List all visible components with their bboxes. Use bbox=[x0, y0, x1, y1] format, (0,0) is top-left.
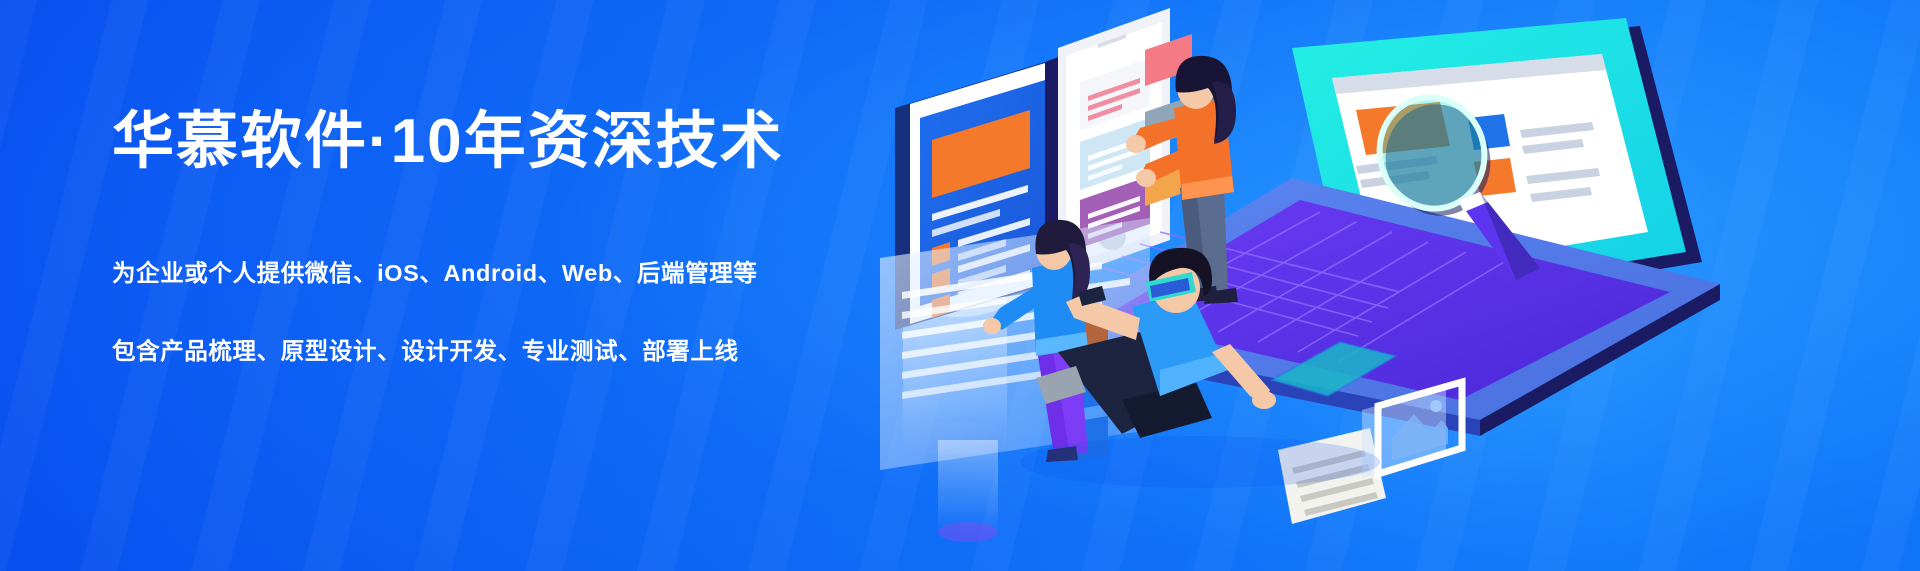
banner-headline: 华慕软件·10年资深技术 bbox=[112, 108, 872, 176]
banner-copy: 华慕软件·10年资深技术 为企业或个人提供微信、iOS、Android、Web、… bbox=[112, 108, 872, 366]
ground-shadow bbox=[1020, 436, 1380, 488]
hero-illustration bbox=[840, 0, 1920, 571]
banner-subtitle-line-2: 包含产品梳理、原型设计、设计开发、专业测试、部署上线 bbox=[112, 332, 872, 366]
banner-subtitle-line-1: 为企业或个人提供微信、iOS、Android、Web、后端管理等 bbox=[112, 254, 872, 288]
hero-banner: 华慕软件·10年资深技术 为企业或个人提供微信、iOS、Android、Web、… bbox=[0, 0, 1920, 571]
